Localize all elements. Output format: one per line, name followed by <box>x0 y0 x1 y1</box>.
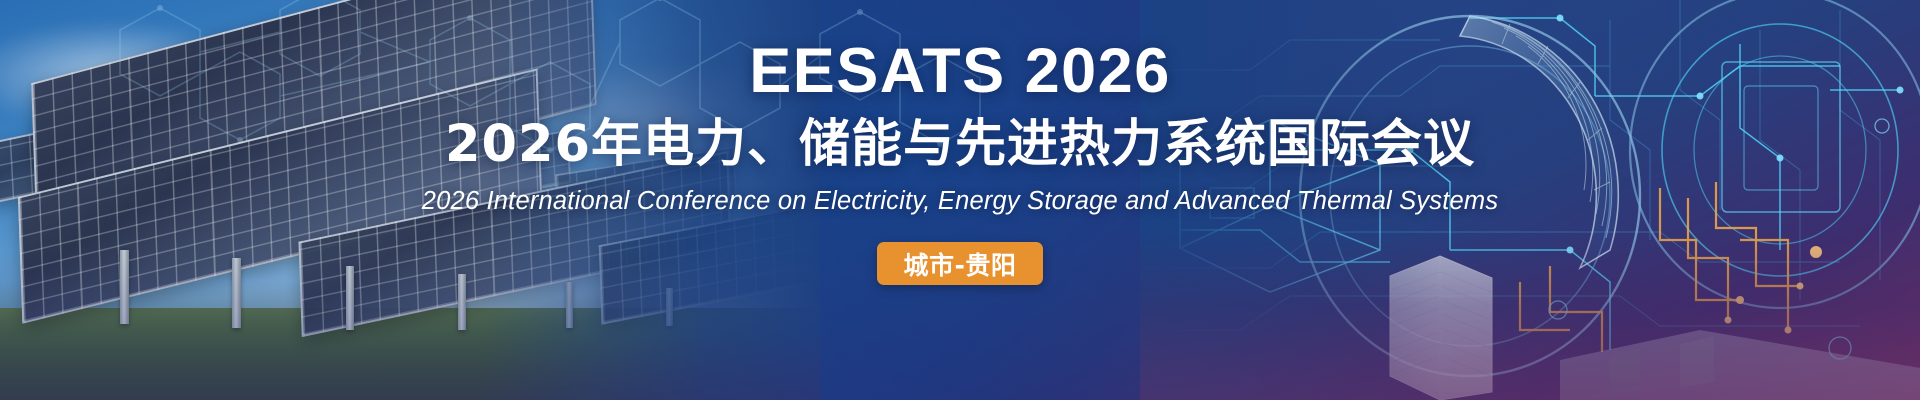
conference-title-chinese: 2026年电力、储能与先进热力系统国际会议 <box>445 116 1475 173</box>
banner-content: EESATS 2026 2026年电力、储能与先进热力系统国际会议 2026 I… <box>0 0 1920 400</box>
conference-title-english: 2026 International Conference on Electri… <box>422 187 1499 216</box>
conference-banner: EESATS 2026 2026年电力、储能与先进热力系统国际会议 2026 I… <box>0 0 1920 400</box>
city-badge[interactable]: 城市-贵阳 <box>877 242 1044 285</box>
conference-acronym-title: EESATS 2026 <box>749 38 1171 104</box>
